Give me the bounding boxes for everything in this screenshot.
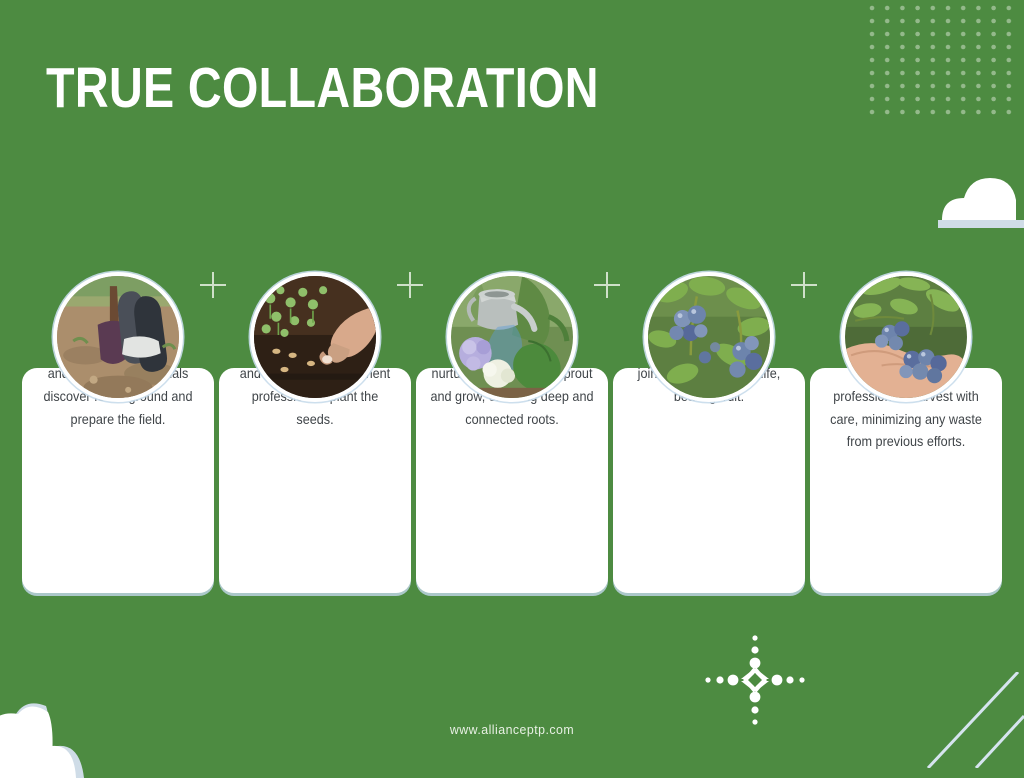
page-title: TRUE COLLABORATION: [46, 60, 599, 117]
card-image-circle: [447, 272, 577, 402]
card-marketing[interactable]: MARKETING and growth professionals disco…: [22, 272, 214, 602]
hand-planting-seeds-in-soil-image: [254, 276, 376, 398]
collaboration-cards-row: MARKETING and growth professionals disco…: [22, 272, 1002, 602]
dot-grid-pattern: [868, 4, 1020, 120]
card-image-circle: [250, 272, 380, 402]
card-front-office[interactable]: FRONT OFFICE nurtures them as they sprou…: [416, 272, 608, 602]
star-ornament-icon: [690, 628, 820, 732]
cloud-icon: [920, 158, 1024, 236]
footer-url[interactable]: www.allianceptp.com: [26, 722, 999, 737]
boots-and-spade-digging-soil-image: [57, 276, 179, 398]
watering-can-over-flowers-image: [451, 276, 573, 398]
card-patient-services[interactable]: PATIENT SERVICES and income cycle profes…: [810, 272, 1002, 602]
card-image-circle: [644, 272, 774, 402]
card-image-circle: [841, 272, 971, 402]
card-clinicians[interactable]: CLINICIANS join as the crop takes life, …: [613, 272, 805, 602]
card-image-circle: [53, 272, 183, 402]
diagonal-lines: [914, 672, 1024, 768]
blueberries-on-bush-image: [648, 276, 770, 398]
card-partner-clinics[interactable]: PARTNER CLINICS and business development…: [219, 272, 411, 602]
hand-harvesting-blueberries-image: [845, 276, 967, 398]
